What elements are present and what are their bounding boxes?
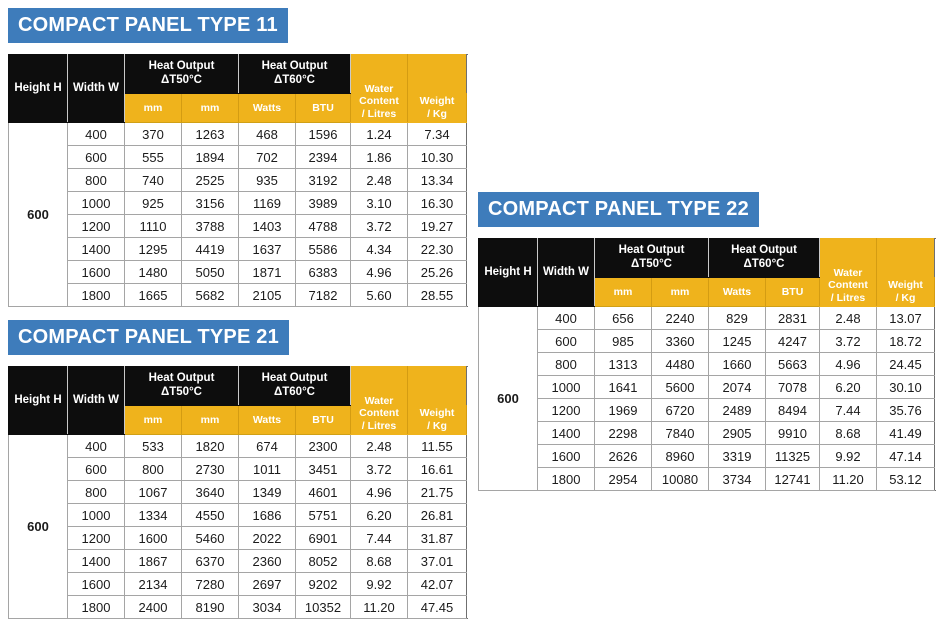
table-body: 600400370126346815961.247.34600555189470… (9, 123, 467, 307)
water-line-3: / Litres (831, 292, 865, 304)
cell-width: 400 (68, 435, 125, 458)
cell-weight: 11.55 (408, 435, 467, 458)
unit-header-watts-dt50: Watts (239, 94, 296, 123)
table-row: 100016415600207470786.2030.10 (479, 376, 935, 399)
col-header-water-content: Water Content / Litres (351, 55, 408, 123)
unit-header-height-mm: mm (125, 94, 182, 123)
cell-water: 3.72 (351, 215, 408, 238)
heat-output-label: Heat Output (149, 60, 215, 72)
cell-water: 9.92 (820, 445, 877, 468)
cell-btu50: 3640 (182, 481, 239, 504)
col-header-height-h: Height H (9, 367, 68, 435)
table-row: 140018676370236080528.6837.01 (9, 550, 467, 573)
water-line-2: Content (359, 95, 399, 107)
cell-watts60: 468 (239, 123, 296, 146)
unit-header-width-mm: mm (182, 94, 239, 123)
cell-weight: 28.55 (408, 284, 467, 307)
cell-watts60: 1349 (239, 481, 296, 504)
table-row: 6008002730101134513.7216.61 (9, 458, 467, 481)
panel-section-type-22: COMPACT PANEL TYPE 22 Height H Width W H… (478, 192, 934, 491)
col-header-width-w: Width W (538, 239, 595, 307)
heat-output-label: Heat Output (262, 60, 328, 72)
cell-watts50: 555 (125, 146, 182, 169)
cell-weight: 19.27 (408, 215, 467, 238)
cell-water: 4.96 (820, 353, 877, 376)
cell-height-h: 600 (479, 307, 538, 491)
cell-weight: 7.34 (408, 123, 467, 146)
cell-weight: 10.30 (408, 146, 467, 169)
cell-weight: 47.45 (408, 596, 467, 619)
cell-watts50: 2626 (595, 445, 652, 468)
cell-water: 11.20 (820, 468, 877, 491)
cell-btu50: 8190 (182, 596, 239, 619)
col-header-water-content: Water Content / Litres (351, 367, 408, 435)
cell-watts50: 370 (125, 123, 182, 146)
cell-width: 1800 (68, 596, 125, 619)
header-row-group: Height H Width W Heat Output ΔT50°C Heat… (479, 239, 935, 278)
cell-btu50: 7280 (182, 573, 239, 596)
unit-header-height-mm: mm (595, 278, 652, 307)
table-row: 180029541008037341274111.2053.12 (479, 468, 935, 491)
panel-title-type-22: COMPACT PANEL TYPE 22 (478, 192, 759, 227)
table-body: 600400533182067423002.4811.5560080027301… (9, 435, 467, 619)
cell-width: 400 (538, 307, 595, 330)
cell-watts50: 2954 (595, 468, 652, 491)
cell-btu50: 6720 (652, 399, 709, 422)
cell-watts60: 935 (239, 169, 296, 192)
cell-width: 800 (68, 169, 125, 192)
table-row: 180016655682210571825.6028.55 (9, 284, 467, 307)
table-row: 120011103788140347883.7219.27 (9, 215, 467, 238)
table-row: 6009853360124542473.7218.72 (479, 330, 935, 353)
table-row: 120019696720248984947.4435.76 (479, 399, 935, 422)
cell-weight: 22.30 (408, 238, 467, 261)
col-header-heat-output-dt50: Heat Output ΔT50°C (125, 367, 239, 406)
cell-watts50: 1313 (595, 353, 652, 376)
heat-output-label: Heat Output (731, 244, 797, 256)
table-row: 80013134480166056634.9624.45 (479, 353, 935, 376)
cell-btu50: 8960 (652, 445, 709, 468)
col-header-weight: Weight / Kg (408, 367, 467, 435)
cell-watts60: 2905 (709, 422, 766, 445)
cell-watts50: 1665 (125, 284, 182, 307)
cell-water: 1.86 (351, 146, 408, 169)
cell-watts50: 1295 (125, 238, 182, 261)
col-header-weight: Weight / Kg (877, 239, 935, 307)
cell-water: 4.96 (351, 481, 408, 504)
cell-watts60: 2697 (239, 573, 296, 596)
cell-width: 800 (68, 481, 125, 504)
cell-btu60: 2394 (296, 146, 351, 169)
cell-btu60: 10352 (296, 596, 351, 619)
cell-btu50: 3156 (182, 192, 239, 215)
cell-btu50: 5460 (182, 527, 239, 550)
table-header: Height H Width W Heat Output ΔT50°C Heat… (9, 367, 467, 435)
cell-water: 3.72 (820, 330, 877, 353)
cell-watts60: 1011 (239, 458, 296, 481)
cell-water: 7.44 (351, 527, 408, 550)
cell-weight: 25.26 (408, 261, 467, 284)
cell-watts50: 1480 (125, 261, 182, 284)
cell-watts60: 2489 (709, 399, 766, 422)
unit-header-watts-dt50: Watts (709, 278, 766, 307)
cell-btu50: 3360 (652, 330, 709, 353)
delta-t60-label: ΔT60°C (744, 258, 785, 270)
cell-water: 5.60 (351, 284, 408, 307)
cell-watts50: 1867 (125, 550, 182, 573)
water-line-2: Content (359, 407, 399, 419)
weight-line-2: / Kg (896, 292, 916, 304)
cell-btu50: 2525 (182, 169, 239, 192)
table-row: 600555189470223941.8610.30 (9, 146, 467, 169)
cell-watts60: 1403 (239, 215, 296, 238)
cell-watts60: 3319 (709, 445, 766, 468)
water-line-2: Content (828, 279, 868, 291)
unit-header-width-mm: mm (182, 406, 239, 435)
cell-btu60: 11325 (766, 445, 820, 468)
cell-height-h: 600 (9, 435, 68, 619)
table-row: 800740252593531922.4813.34 (9, 169, 467, 192)
cell-width: 1200 (68, 527, 125, 550)
cell-btu50: 5682 (182, 284, 239, 307)
cell-watts60: 674 (239, 435, 296, 458)
cell-btu60: 4601 (296, 481, 351, 504)
water-line-1: Water (834, 267, 863, 279)
heat-output-label: Heat Output (262, 372, 328, 384)
col-header-water-content: Water Content / Litres (820, 239, 877, 307)
title-table-gap (8, 43, 466, 54)
cell-water: 11.20 (351, 596, 408, 619)
cell-btu50: 5050 (182, 261, 239, 284)
unit-header-width-mm: mm (652, 278, 709, 307)
cell-width: 600 (538, 330, 595, 353)
cell-width: 1200 (68, 215, 125, 238)
cell-btu50: 1263 (182, 123, 239, 146)
weight-line-2: / Kg (427, 108, 447, 120)
cell-watts60: 702 (239, 146, 296, 169)
weight-line-2: / Kg (427, 420, 447, 432)
cell-weight: 53.12 (877, 468, 935, 491)
cell-width: 1600 (538, 445, 595, 468)
cell-water: 2.48 (351, 169, 408, 192)
cell-weight: 13.34 (408, 169, 467, 192)
cell-btu50: 7840 (652, 422, 709, 445)
cell-watts60: 1871 (239, 261, 296, 284)
title-table-gap (478, 227, 934, 238)
col-header-weight: Weight / Kg (408, 55, 467, 123)
cell-btu60: 7078 (766, 376, 820, 399)
unit-header-btu-dt50: BTU (296, 406, 351, 435)
heat-output-label: Heat Output (149, 372, 215, 384)
unit-header-height-mm: mm (125, 406, 182, 435)
panel-title-type-11: COMPACT PANEL TYPE 11 (8, 8, 288, 43)
cell-watts60: 1637 (239, 238, 296, 261)
cell-weight: 21.75 (408, 481, 467, 504)
col-header-width-w: Width W (68, 367, 125, 435)
table-header: Height H Width W Heat Output ΔT50°C Heat… (9, 55, 467, 123)
cell-btu60: 8052 (296, 550, 351, 573)
cell-btu50: 4550 (182, 504, 239, 527)
cell-btu60: 2831 (766, 307, 820, 330)
cell-watts50: 2400 (125, 596, 182, 619)
water-line-1: Water (365, 83, 394, 95)
cell-width: 600 (68, 146, 125, 169)
cell-width: 1400 (538, 422, 595, 445)
water-line-3: / Litres (362, 420, 396, 432)
cell-btu50: 2730 (182, 458, 239, 481)
cell-width: 1800 (538, 468, 595, 491)
cell-btu50: 4419 (182, 238, 239, 261)
cell-watts50: 800 (125, 458, 182, 481)
cell-water: 2.48 (820, 307, 877, 330)
title-table-gap (8, 355, 466, 366)
col-header-heat-output-dt60: Heat Output ΔT60°C (239, 55, 351, 94)
cell-btu50: 6370 (182, 550, 239, 573)
cell-width: 1200 (538, 399, 595, 422)
table-row: 600400533182067423002.4811.55 (9, 435, 467, 458)
cell-water: 8.68 (820, 422, 877, 445)
cell-weight: 31.87 (408, 527, 467, 550)
cell-watts60: 3734 (709, 468, 766, 491)
cell-height-h: 600 (9, 123, 68, 307)
water-line-3: / Litres (362, 108, 396, 120)
cell-water: 7.44 (820, 399, 877, 422)
col-header-heat-output-dt50: Heat Output ΔT50°C (125, 55, 239, 94)
cell-watts50: 1969 (595, 399, 652, 422)
cell-weight: 18.72 (877, 330, 935, 353)
water-line-1: Water (365, 395, 394, 407)
cell-btu60: 1596 (296, 123, 351, 146)
col-header-height-h: Height H (9, 55, 68, 123)
cell-btu50: 1894 (182, 146, 239, 169)
cell-width: 800 (538, 353, 595, 376)
table-row: 160021347280269792029.9242.07 (9, 573, 467, 596)
panel-section-type-11: COMPACT PANEL TYPE 11 Height H Width W H… (8, 8, 466, 307)
cell-width: 1000 (68, 504, 125, 527)
delta-t50-label: ΔT50°C (631, 258, 672, 270)
cell-watts60: 1245 (709, 330, 766, 353)
cell-water: 3.72 (351, 458, 408, 481)
cell-width: 400 (68, 123, 125, 146)
delta-t60-label: ΔT60°C (274, 386, 315, 398)
table-row: 600400656224082928312.4813.07 (479, 307, 935, 330)
cell-weight: 13.07 (877, 307, 935, 330)
cell-weight: 30.10 (877, 376, 935, 399)
col-header-width-w: Width W (68, 55, 125, 123)
cell-watts60: 1686 (239, 504, 296, 527)
header-row-group: Height H Width W Heat Output ΔT50°C Heat… (9, 55, 467, 94)
cell-btu60: 9910 (766, 422, 820, 445)
cell-weight: 35.76 (877, 399, 935, 422)
cell-weight: 37.01 (408, 550, 467, 573)
cell-watts50: 1110 (125, 215, 182, 238)
cell-width: 1800 (68, 284, 125, 307)
cell-width: 1600 (68, 573, 125, 596)
cell-water: 9.92 (351, 573, 408, 596)
cell-btu60: 4788 (296, 215, 351, 238)
cell-watts50: 740 (125, 169, 182, 192)
delta-t50-label: ΔT50°C (161, 74, 202, 86)
cell-watts60: 2074 (709, 376, 766, 399)
cell-btu50: 4480 (652, 353, 709, 376)
table-row: 100013344550168657516.2026.81 (9, 504, 467, 527)
cell-weight: 42.07 (408, 573, 467, 596)
header-row-group: Height H Width W Heat Output ΔT50°C Heat… (9, 367, 467, 406)
col-header-height-h: Height H (479, 239, 538, 307)
cell-watts60: 2360 (239, 550, 296, 573)
delta-t50-label: ΔT50°C (161, 386, 202, 398)
cell-watts50: 985 (595, 330, 652, 353)
cell-watts50: 1334 (125, 504, 182, 527)
cell-water: 6.20 (820, 376, 877, 399)
weight-line-1: Weight (420, 407, 455, 419)
cell-btu50: 5600 (652, 376, 709, 399)
cell-btu50: 1820 (182, 435, 239, 458)
table-row: 80010673640134946014.9621.75 (9, 481, 467, 504)
cell-watts60: 1660 (709, 353, 766, 376)
cell-btu60: 6383 (296, 261, 351, 284)
cell-width: 1600 (68, 261, 125, 284)
table-row: 160014805050187163834.9625.26 (9, 261, 467, 284)
cell-btu60: 7182 (296, 284, 351, 307)
cell-water: 2.48 (351, 435, 408, 458)
cell-width: 600 (68, 458, 125, 481)
table-row: 140022987840290599108.6841.49 (479, 422, 935, 445)
cell-btu60: 5751 (296, 504, 351, 527)
cell-watts50: 1067 (125, 481, 182, 504)
cell-water: 4.96 (351, 261, 408, 284)
cell-watts60: 3034 (239, 596, 296, 619)
cell-weight: 47.14 (877, 445, 935, 468)
cell-water: 4.34 (351, 238, 408, 261)
cell-water: 1.24 (351, 123, 408, 146)
cell-btu60: 2300 (296, 435, 351, 458)
weight-line-1: Weight (888, 279, 923, 291)
unit-header-btu-dt50: BTU (296, 94, 351, 123)
cell-btu60: 8494 (766, 399, 820, 422)
col-header-heat-output-dt60: Heat Output ΔT60°C (709, 239, 820, 278)
panel-section-type-21: COMPACT PANEL TYPE 21 Height H Width W H… (8, 320, 466, 619)
cell-watts50: 1600 (125, 527, 182, 550)
cell-watts50: 925 (125, 192, 182, 215)
table-row: 120016005460202269017.4431.87 (9, 527, 467, 550)
cell-watts60: 1169 (239, 192, 296, 215)
cell-width: 1000 (538, 376, 595, 399)
cell-watts50: 1641 (595, 376, 652, 399)
cell-weight: 16.30 (408, 192, 467, 215)
cell-watts50: 2298 (595, 422, 652, 445)
cell-width: 1400 (68, 238, 125, 261)
table-row: 18002400819030341035211.2047.45 (9, 596, 467, 619)
unit-header-watts-dt50: Watts (239, 406, 296, 435)
cell-btu60: 3989 (296, 192, 351, 215)
unit-header-btu-dt50: BTU (766, 278, 820, 307)
cell-watts50: 656 (595, 307, 652, 330)
spec-table-type-22: Height H Width W Heat Output ΔT50°C Heat… (478, 238, 935, 491)
spec-table-type-21: Height H Width W Heat Output ΔT50°C Heat… (8, 366, 467, 619)
cell-weight: 16.61 (408, 458, 467, 481)
cell-weight: 26.81 (408, 504, 467, 527)
cell-btu60: 4247 (766, 330, 820, 353)
cell-btu60: 9202 (296, 573, 351, 596)
col-header-heat-output-dt60: Heat Output ΔT60°C (239, 367, 351, 406)
cell-btu50: 10080 (652, 468, 709, 491)
weight-line-1: Weight (420, 95, 455, 107)
cell-watts50: 533 (125, 435, 182, 458)
cell-btu60: 5586 (296, 238, 351, 261)
table-row: 1600262689603319113259.9247.14 (479, 445, 935, 468)
heat-output-label: Heat Output (619, 244, 685, 256)
spec-table-type-11: Height H Width W Heat Output ΔT50°C Heat… (8, 54, 467, 307)
table-row: 140012954419163755864.3422.30 (9, 238, 467, 261)
cell-watts60: 829 (709, 307, 766, 330)
cell-btu60: 3192 (296, 169, 351, 192)
cell-btu60: 5663 (766, 353, 820, 376)
cell-water: 8.68 (351, 550, 408, 573)
cell-btu50: 2240 (652, 307, 709, 330)
cell-btu50: 3788 (182, 215, 239, 238)
cell-weight: 41.49 (877, 422, 935, 445)
table-row: 10009253156116939893.1016.30 (9, 192, 467, 215)
panel-title-type-21: COMPACT PANEL TYPE 21 (8, 320, 289, 355)
col-header-heat-output-dt50: Heat Output ΔT50°C (595, 239, 709, 278)
cell-btu60: 12741 (766, 468, 820, 491)
cell-width: 1000 (68, 192, 125, 215)
table-header: Height H Width W Heat Output ΔT50°C Heat… (479, 239, 935, 307)
cell-watts60: 2022 (239, 527, 296, 550)
cell-width: 1400 (68, 550, 125, 573)
cell-btu60: 6901 (296, 527, 351, 550)
delta-t60-label: ΔT60°C (274, 74, 315, 86)
cell-btu60: 3451 (296, 458, 351, 481)
table-body: 600400656224082928312.4813.0760098533601… (479, 307, 935, 491)
table-row: 600400370126346815961.247.34 (9, 123, 467, 146)
cell-water: 6.20 (351, 504, 408, 527)
cell-weight: 24.45 (877, 353, 935, 376)
cell-watts50: 2134 (125, 573, 182, 596)
cell-water: 3.10 (351, 192, 408, 215)
cell-watts60: 2105 (239, 284, 296, 307)
